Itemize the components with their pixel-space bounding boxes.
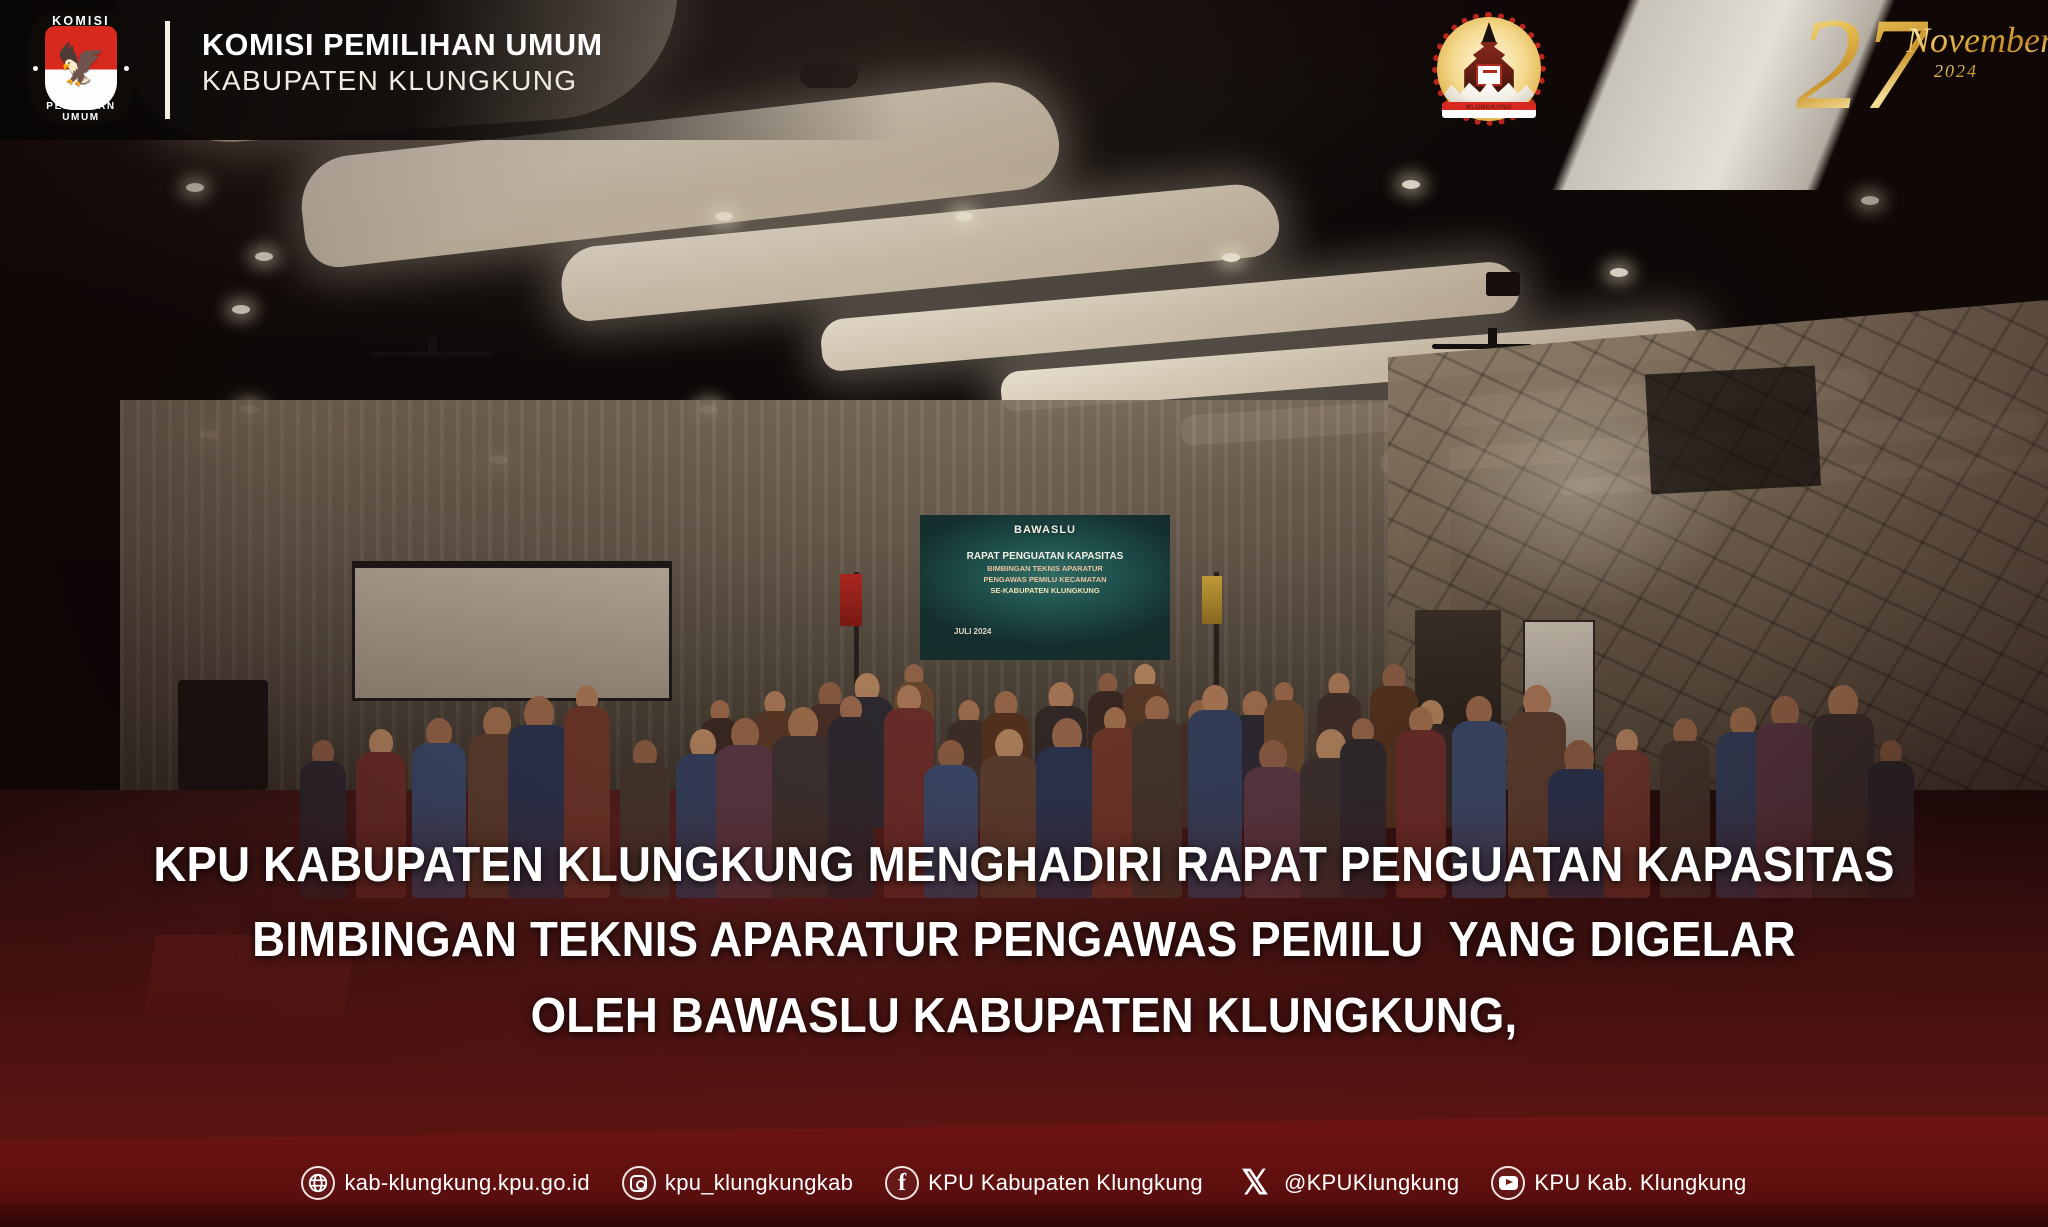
downlight: [255, 252, 273, 261]
backdrop-date: JULI 2024: [954, 627, 991, 636]
date-year: 2024: [1934, 61, 1978, 82]
backdrop-subtitle-3: SE-KABUPATEN KLUNGKUNG: [990, 586, 1099, 595]
downlight: [1222, 253, 1240, 262]
downlight: [955, 212, 973, 221]
social-link-instagram[interactable]: kpu_klungkungkab: [622, 1166, 853, 1200]
backdrop-organizer: BAWASLU: [1014, 524, 1076, 536]
header-divider: [165, 21, 170, 119]
backdrop-subtitle-1: BIMBINGAN TEKNIS APARATUR: [987, 564, 1103, 573]
x-twitter-icon[interactable]: 𝕏: [1235, 1163, 1275, 1203]
kpu-logo-flag-field: 🦅: [45, 26, 117, 110]
header-titles: KOMISI PEMILIHAN UMUM KABUPATEN KLUNGKUN…: [202, 27, 603, 98]
downlight: [186, 183, 204, 192]
downlight: [1402, 180, 1420, 189]
kpu-logo-ring-bottom: PEMILIHAN UMUM: [28, 101, 134, 123]
ceremonial-flag: [1202, 576, 1222, 624]
poster-header: 🦅 KOMISI PEMILIHAN UMUM KOMISI PEMILIHAN…: [0, 0, 2048, 140]
caption-line-2: BIMBINGAN TEKNIS APARATUR PENGAWAS PEMIL…: [72, 903, 1977, 978]
date-month: November: [1906, 22, 2048, 58]
social-links-row: kab-klungkung.kpu.go.idkpu_klungkungkabf…: [0, 1161, 2048, 1205]
backdrop-title: RAPAT PENGUATAN KAPASITAS: [967, 551, 1124, 562]
social-link-x-twitter[interactable]: 𝕏@KPUKlungkung: [1235, 1163, 1459, 1203]
instagram-icon[interactable]: [622, 1166, 656, 1200]
caption-block: KPU KABUPATEN KLUNGKUNG MENGHADIRI RAPAT…: [0, 828, 2048, 1054]
ceiling-fan: [372, 352, 492, 357]
ceiling-projector: [1486, 272, 1520, 296]
event-backdrop-banner: BAWASLU RAPAT PENGUATAN KAPASITAS BIMBIN…: [920, 515, 1170, 660]
social-link-globe[interactable]: kab-klungkung.kpu.go.id: [301, 1166, 589, 1200]
social-handle-label: @KPUKlungkung: [1284, 1170, 1459, 1196]
downlight: [715, 212, 733, 221]
youtube-icon[interactable]: [1491, 1166, 1525, 1200]
downlight: [1861, 196, 1879, 205]
social-link-youtube[interactable]: KPU Kab. Klungkung: [1491, 1166, 1746, 1200]
organization-name: KOMISI PEMILIHAN UMUM: [202, 27, 603, 64]
kpu-logo-dot: [124, 66, 129, 71]
klungkung-pilkada-emblem: KLUNGKUNG: [1430, 14, 1548, 126]
emblem-ribbon-text: KLUNGKUNG: [1442, 104, 1536, 111]
projector-screen: [352, 561, 672, 701]
speaker-box: [178, 680, 268, 790]
regency-name: KABUPATEN KLUNGKUNG: [202, 64, 603, 98]
social-media-poster: BAWASLU RAPAT PENGUATAN KAPASITAS BIMBIN…: [0, 0, 2048, 1227]
garuda-icon: 🦅: [56, 45, 106, 85]
globe-icon[interactable]: [301, 1166, 335, 1200]
social-handle-label: kpu_klungkungkab: [665, 1170, 853, 1196]
kpu-logo-ring-top: KOMISI: [28, 14, 134, 28]
downlight: [1610, 268, 1628, 277]
caption-line-1: KPU KABUPATEN KLUNGKUNG MENGHADIRI RAPAT…: [72, 828, 1977, 903]
social-handle-label: KPU Kab. Klungkung: [1534, 1170, 1746, 1196]
social-link-facebook[interactable]: fKPU Kabupaten Klungkung: [885, 1166, 1203, 1200]
downlight: [232, 305, 250, 314]
indonesian-flag: [840, 574, 862, 626]
social-handle-label: kab-klungkung.kpu.go.id: [344, 1170, 589, 1196]
emblem-ribbon: KLUNGKUNG: [1442, 102, 1536, 118]
wall-panel: [1645, 366, 1821, 495]
election-date-badge: 27 November 2024: [1788, 4, 2038, 136]
kpu-logo: 🦅 KOMISI PEMILIHAN UMUM: [28, 12, 134, 124]
facebook-icon[interactable]: f: [885, 1166, 919, 1200]
caption-line-3: OLEH BAWASLU KABUPATEN KLUNGKUNG,: [72, 979, 1977, 1054]
social-handle-label: KPU Kabupaten Klungkung: [928, 1170, 1203, 1196]
backdrop-subtitle-2: PENGAWAS PEMILU KECAMATAN: [983, 575, 1106, 584]
kpu-logo-dot: [33, 66, 38, 71]
